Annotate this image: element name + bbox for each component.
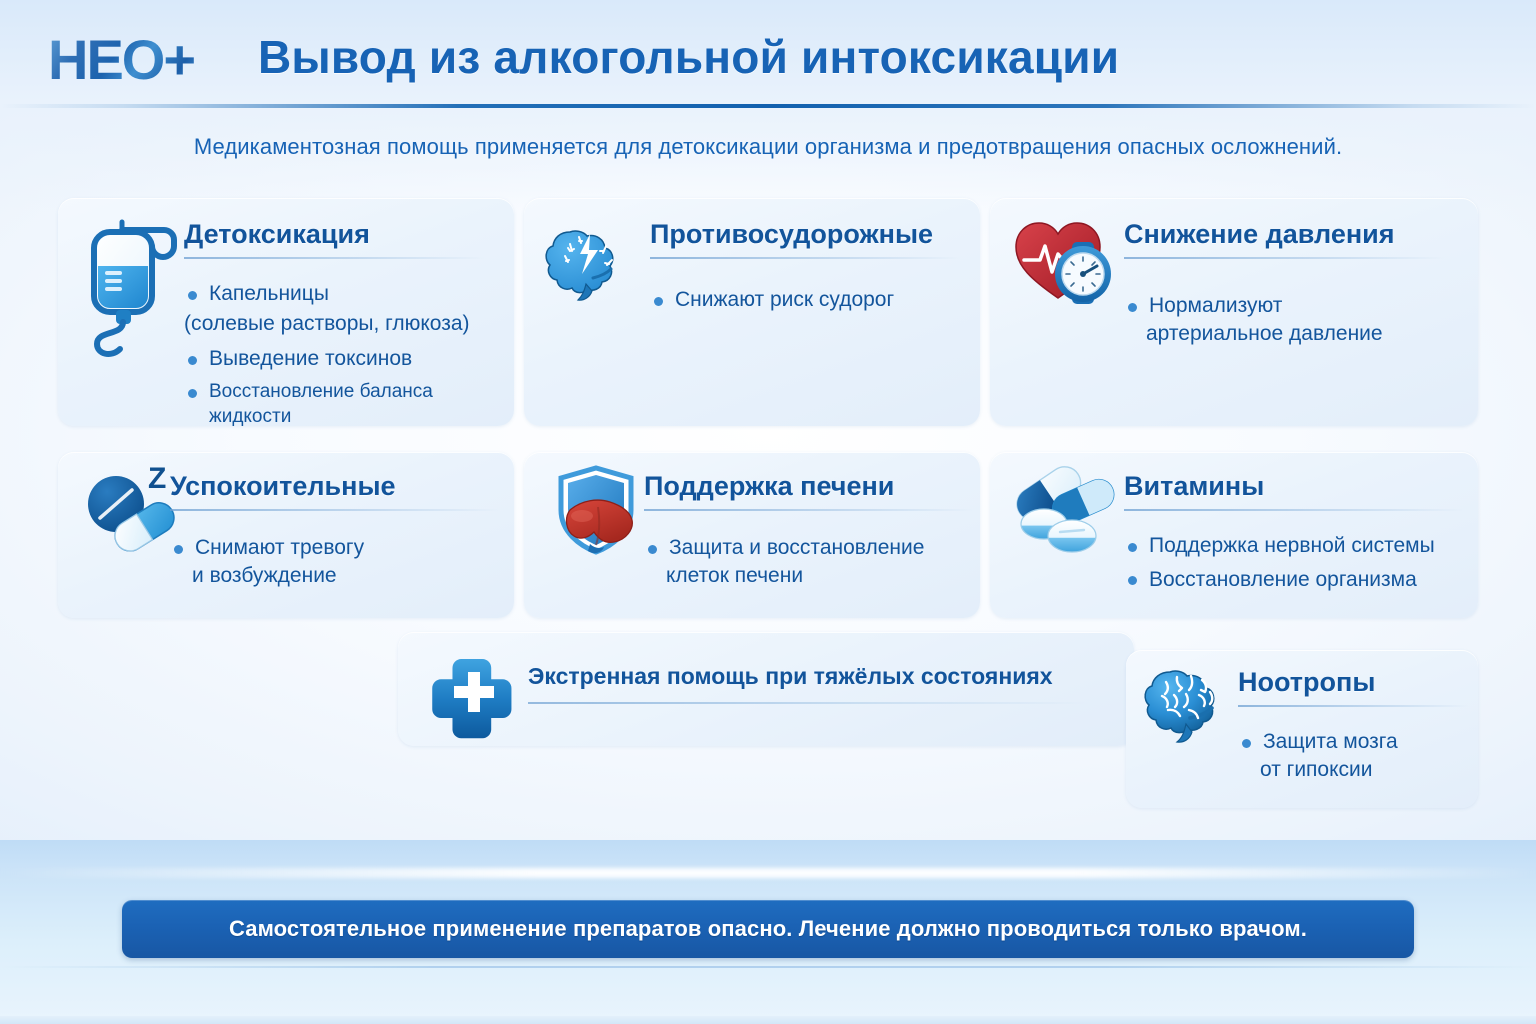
card-title: Детоксикация (184, 220, 484, 250)
list-item: Восстановление баланса жидкости (184, 379, 504, 429)
emergency-care-panel[interactable]: Экстренная помощь при тяжёлых состояниях (398, 632, 1134, 746)
warning-banner: Самостоятельное применение препаратов оп… (122, 900, 1414, 958)
card-title: Поддержка печени (644, 472, 974, 502)
bullet-text: Защита и восстановление (669, 536, 924, 559)
bullet-text-continuation: и возбуждение (192, 562, 500, 590)
iv-drip-icon (80, 216, 184, 332)
heart-pressure-gauge-icon (1010, 214, 1114, 314)
list-item: Снижают риск судорог (650, 286, 950, 314)
card-detoxification-bullets: Капельницы (солевые растворы, глюкоза) В… (184, 280, 504, 435)
card-liver-support-header: Поддержка печени (644, 472, 974, 511)
card-sedatives[interactable]: Z Успокоительные Снимают тревогу и возбу… (58, 452, 514, 618)
title-underline (1238, 705, 1468, 707)
title-underline (184, 257, 484, 259)
title-underline (1124, 257, 1444, 259)
bullet-text: Поддержка нервной системы (1149, 534, 1435, 557)
emergency-underline (528, 702, 1088, 704)
list-item: Поддержка нервной системы (1124, 532, 1464, 560)
bullet-text: Снижают риск судорог (675, 288, 894, 311)
card-liver-support[interactable]: Поддержка печени Защита и восстановление… (524, 452, 980, 618)
bullet-text: Защита мозга (1263, 730, 1398, 753)
card-detoxification-header: Детоксикация (184, 220, 484, 259)
card-nootropics-bullets: Защита мозга от гипоксии (1238, 728, 1468, 789)
list-item: Капельницы (184, 280, 504, 308)
bullet-text-continuation: артериальное давление (1146, 320, 1454, 348)
footer-hairline (0, 966, 1536, 968)
footer-bottom-edge (0, 1016, 1536, 1024)
bullet-text: Снимают тревогу (195, 536, 364, 559)
title-underline (644, 509, 974, 511)
title-underline (650, 257, 960, 259)
header: НЕО+ Вывод из алкогольной интоксикации (0, 24, 1536, 104)
page-subtitle: Медикаментозная помощь применяется для д… (0, 134, 1536, 160)
list-item: Нормализуют артериальное давление (1124, 292, 1454, 347)
list-item: Защита мозга от гипоксии (1238, 728, 1468, 783)
brain-lightning-icon (546, 218, 638, 310)
card-blood-pressure-bullets: Нормализуют артериальное давление (1124, 292, 1454, 353)
card-nootropics-header: Ноотропы (1238, 668, 1468, 707)
bullet-text: Восстановление организма (1149, 568, 1417, 591)
warning-text: Самостоятельное применение препаратов оп… (229, 916, 1307, 942)
bullet-text: Выведение токсинов (209, 347, 412, 370)
bullet-text: Восстановление баланса жидкости (209, 381, 433, 427)
pills-capsules-icon (1000, 462, 1118, 558)
list-item: Выведение токсинов (184, 345, 504, 373)
list-item: Защита и восстановление клеток печени (644, 534, 974, 589)
card-title: Противосудорожные (650, 220, 960, 250)
card-vitamins-bullets: Поддержка нервной системы Восстановление… (1124, 532, 1464, 599)
card-vitamins[interactable]: Витамины Поддержка нервной системы Восст… (990, 452, 1478, 618)
title-underline (170, 509, 500, 511)
bullet-text-continuation: клеток печени (666, 562, 974, 590)
card-blood-pressure[interactable]: Снижение давления Нормализуют артериальн… (990, 198, 1478, 426)
card-sedatives-bullets: Снимают тревогу и возбуждение (170, 534, 500, 595)
card-nootropics[interactable]: Ноотропы Защита мозга от гипоксии (1126, 650, 1478, 808)
bullet-text: Нормализуют (1149, 294, 1282, 317)
list-item: Восстановление организма (1124, 566, 1464, 594)
shield-liver-icon (546, 462, 652, 560)
card-title: Успокоительные (170, 472, 500, 502)
card-sedatives-header: Успокоительные (170, 472, 500, 511)
list-item: Снимают тревогу и возбуждение (170, 534, 500, 589)
bullet-subtext: (солевые растворы, глюкоза) (184, 310, 504, 338)
card-title: Витамины (1124, 472, 1464, 502)
brain-icon (1144, 660, 1238, 754)
footer-sheen (0, 868, 1536, 878)
card-title: Снижение давления (1124, 220, 1444, 250)
bullet-text-continuation: от гипоксии (1260, 756, 1468, 784)
svg-text:Z: Z (148, 462, 166, 495)
card-title: Ноотропы (1238, 668, 1468, 698)
card-anticonvulsants-header: Противосудорожные (650, 220, 960, 259)
card-blood-pressure-header: Снижение давления (1124, 220, 1444, 259)
card-liver-support-bullets: Защита и восстановление клеток печени (644, 534, 974, 595)
medical-cross-icon (434, 652, 512, 730)
brand-logo: НЕО+ (48, 32, 194, 88)
emergency-care-title: Экстренная помощь при тяжёлых состояниях (528, 663, 1098, 690)
page-title: Вывод из алкогольной интоксикации (258, 29, 1119, 87)
header-divider (0, 104, 1536, 108)
card-vitamins-header: Витамины (1124, 472, 1464, 511)
card-anticonvulsants[interactable]: Противосудорожные Снижают риск судорог (524, 198, 980, 426)
card-anticonvulsants-bullets: Снижают риск судорог (650, 286, 950, 320)
title-underline (1124, 509, 1464, 511)
bullet-text: Капельницы (209, 282, 329, 305)
card-detoxification[interactable]: Детоксикация Капельницы (солевые раствор… (58, 198, 514, 426)
